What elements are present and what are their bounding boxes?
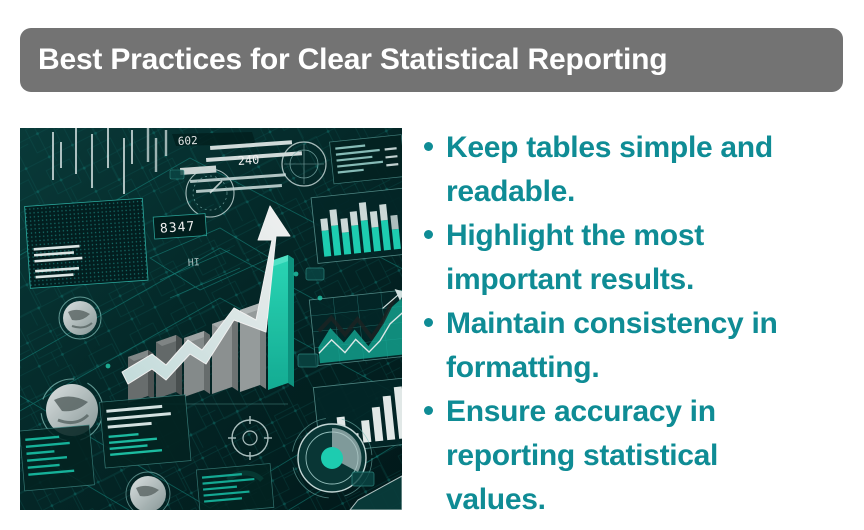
list-item: Highlight the most important results.	[424, 214, 854, 302]
list-item: Maintain consistency in formatting.	[424, 302, 854, 390]
bullet-dot-icon	[424, 142, 433, 151]
bullet-text: Maintain consistency in formatting.	[446, 302, 818, 390]
illustration-image: 602 240	[20, 128, 402, 510]
bullet-text: Ensure accuracy in reporting statistical…	[446, 390, 818, 522]
bullet-dot-icon	[424, 318, 433, 327]
title-banner: Best Practices for Clear Statistical Rep…	[20, 28, 843, 92]
page-title: Best Practices for Clear Statistical Rep…	[38, 43, 667, 77]
list-item: Keep tables simple and readable.	[424, 126, 854, 214]
bullet-dot-icon	[424, 230, 433, 239]
list-item: Ensure accuracy in reporting statistical…	[424, 390, 854, 522]
bullet-text: Highlight the most important results.	[446, 214, 818, 302]
bullet-dot-icon	[424, 406, 433, 415]
bullet-list: Keep tables simple and readable. Highlig…	[424, 126, 854, 530]
bullet-text: Keep tables simple and readable.	[446, 126, 818, 214]
